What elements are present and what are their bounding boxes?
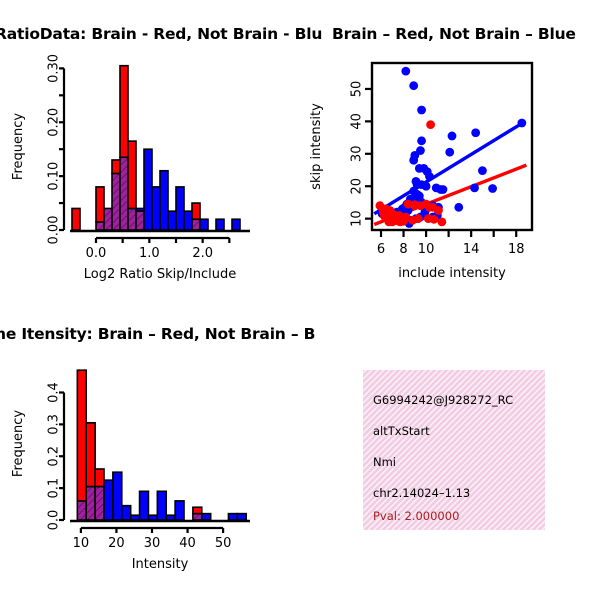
x-tick-label: 10: [418, 242, 435, 257]
x-tick-label: 18: [508, 242, 525, 257]
hist-bar-overlap: [112, 173, 120, 230]
scatter-point: [417, 136, 426, 145]
gene-info-event-type: altTxStart: [373, 424, 430, 438]
x-tick-label: 40: [179, 536, 196, 551]
hist-bar: [113, 472, 122, 520]
plot-area: [77, 370, 246, 520]
hist-ratio-title: RatioData: Brain - Red, Not Brain - Blu: [0, 25, 322, 43]
hist-ratio-svg: 0.000.100.200.300.01.02.0Log2 Ratio Skip…: [0, 45, 300, 305]
y-tick-label: 10: [350, 210, 365, 227]
scatter-point: [445, 148, 454, 157]
hist-bar: [96, 187, 104, 222]
x-tick-label: 10: [73, 536, 90, 551]
hist-bar: [128, 141, 136, 208]
hist-bar: [157, 491, 166, 520]
y-axis-label: skip intensity: [309, 103, 324, 190]
hist-bar: [112, 160, 120, 173]
scatter-point: [471, 128, 480, 137]
scatter-point: [478, 166, 487, 175]
hist-intensity-panel: 0.00.10.20.30.41020304050IntensityFreque…: [0, 345, 300, 600]
hist-bar: [131, 515, 140, 520]
hist-bar: [228, 514, 237, 520]
y-axis-label: Frequency: [11, 113, 26, 180]
scatter-point: [388, 217, 397, 226]
y-tick-label: 0.0: [47, 510, 62, 531]
plot-area: [72, 66, 240, 230]
scatter-point: [401, 67, 410, 76]
hist-bar-overlap: [136, 211, 144, 230]
hist-bar-overlap: [77, 501, 86, 520]
hist-bar-overlap: [86, 487, 95, 520]
y-tick-label: 50: [350, 81, 365, 98]
y-tick-label: 0.10: [47, 162, 62, 191]
hist-bar-overlap: [120, 157, 128, 230]
scatter-point: [437, 217, 446, 226]
x-axis-label: include intensity: [398, 266, 506, 281]
scatter-title: Brain – Red, Not Brain – Blue: [332, 25, 576, 43]
hist-intensity-svg: 0.00.10.20.30.41020304050IntensityFreque…: [0, 345, 300, 600]
scatter-point: [439, 185, 448, 194]
hist-bar: [175, 501, 184, 520]
hist-bar: [216, 219, 224, 230]
hist-bar: [184, 211, 192, 230]
hist-bar: [144, 149, 152, 230]
y-tick-label: 30: [350, 146, 365, 163]
scatter-point: [426, 120, 435, 129]
hist-bar: [152, 187, 160, 230]
y-axis-label: Frequency: [11, 410, 26, 477]
hist-bar: [122, 506, 131, 520]
hist-bar: [192, 203, 200, 219]
y-tick-label: 40: [350, 113, 365, 130]
scatter-point: [396, 217, 405, 226]
hist-bar: [86, 423, 95, 487]
hist-bar: [193, 507, 202, 513]
y-tick-label: 0.4: [47, 382, 62, 403]
hist-bar: [72, 208, 80, 230]
hist-bar: [237, 514, 246, 520]
hist-bar: [148, 515, 157, 520]
scatter-svg: 102030405068101418include intensityskip …: [300, 45, 600, 305]
scatter-point: [434, 206, 443, 215]
hist-bar: [77, 370, 86, 501]
hist-bar-overlap: [128, 208, 136, 230]
x-tick-label: 50: [215, 536, 232, 551]
gene-info-box: G6994242@J928272_RC altTxStart Nmi chr2.…: [363, 370, 545, 530]
x-tick-label: 6: [377, 242, 385, 257]
hist-bar: [200, 219, 208, 230]
scatter-point: [417, 106, 426, 115]
hist-bar: [232, 219, 240, 230]
gene-info-id: G6994242@J928272_RC: [373, 393, 513, 407]
hist-bar: [176, 187, 184, 230]
hist-bar: [140, 491, 149, 520]
x-tick-label: 1.0: [139, 246, 160, 261]
hist-bar: [104, 480, 113, 520]
plot-frame: [372, 63, 532, 230]
hist-bar-overlap: [96, 222, 104, 230]
hist-bar: [136, 208, 144, 211]
gene-info-symbol: Nmi: [373, 455, 396, 469]
x-tick-label: 20: [108, 536, 125, 551]
x-tick-label: 2.0: [192, 246, 213, 261]
scatter-panel: 102030405068101418include intensityskip …: [300, 45, 600, 305]
y-tick-label: 20: [350, 178, 365, 195]
hist-bar: [160, 171, 168, 230]
scatter-point: [454, 203, 463, 212]
scatter-point: [409, 156, 418, 165]
y-tick-label: 0.30: [47, 54, 62, 83]
scatter-point: [470, 183, 479, 192]
y-tick-label: 0.00: [47, 216, 62, 245]
y-tick-label: 0.1: [47, 478, 62, 499]
x-tick-label: 8: [399, 242, 407, 257]
scatter-point: [425, 172, 434, 181]
y-tick-label: 0.20: [47, 108, 62, 137]
hist-bar-overlap: [192, 219, 200, 230]
scatter-point: [430, 215, 439, 224]
x-axis-label: Intensity: [132, 557, 189, 572]
hist-bar: [166, 515, 175, 520]
plot-area: [374, 67, 526, 228]
scatter-point: [408, 216, 417, 225]
scatter-point: [517, 119, 526, 128]
x-axis-label: Log2 Ratio Skip/Include: [84, 267, 236, 282]
hist-bar: [168, 211, 176, 230]
hist-bar-overlap: [104, 208, 112, 230]
scatter-point: [409, 81, 418, 90]
hist-ratio-panel: 0.000.100.200.300.01.02.0Log2 Ratio Skip…: [0, 45, 300, 305]
scatter-point: [379, 208, 388, 217]
scatter-point: [488, 184, 497, 193]
gene-info-locus: chr2.14024–1.13: [373, 486, 470, 500]
x-tick-label: 30: [144, 536, 161, 551]
y-tick-label: 0.3: [47, 414, 62, 435]
gene-info-pval: Pval: 2.000000: [373, 509, 459, 523]
scatter-point: [448, 132, 457, 141]
hist-bar: [120, 66, 128, 158]
x-tick-label: 0.0: [86, 246, 107, 261]
x-tick-label: 14: [463, 242, 480, 257]
hist-bar: [202, 514, 211, 520]
hist-intensity-title: ne Itensity: Brain – Red, Not Brain – B: [0, 325, 315, 343]
scatter-point: [422, 182, 431, 191]
hist-bar-overlap: [95, 487, 104, 520]
hist-bar-overlap: [193, 514, 202, 520]
y-tick-label: 0.2: [47, 446, 62, 467]
hist-bar: [95, 469, 104, 487]
